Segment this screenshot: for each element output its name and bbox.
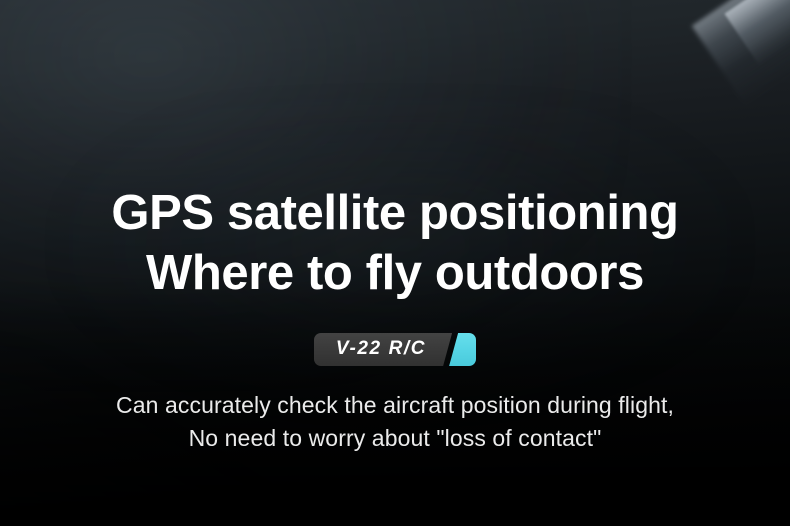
subtitle-line-1: Can accurately check the aircraft positi… — [0, 389, 790, 422]
headline: GPS satellite positioning Where to fly o… — [0, 183, 790, 303]
promo-banner: GPS satellite positioning Where to fly o… — [0, 0, 790, 526]
model-badge-accent — [449, 333, 476, 366]
model-badge-body: V-22 R/C — [314, 333, 452, 366]
subtitle: Can accurately check the aircraft positi… — [0, 389, 790, 455]
model-badge-container: V-22 R/C — [0, 333, 790, 366]
model-badge-label: V-22 R/C — [336, 339, 426, 358]
banner-content: GPS satellite positioning Where to fly o… — [0, 0, 790, 526]
headline-line-2: Where to fly outdoors — [0, 243, 790, 303]
model-badge: V-22 R/C — [314, 333, 476, 366]
headline-line-1: GPS satellite positioning — [0, 183, 790, 243]
subtitle-line-2: No need to worry about "loss of contact" — [0, 422, 790, 455]
